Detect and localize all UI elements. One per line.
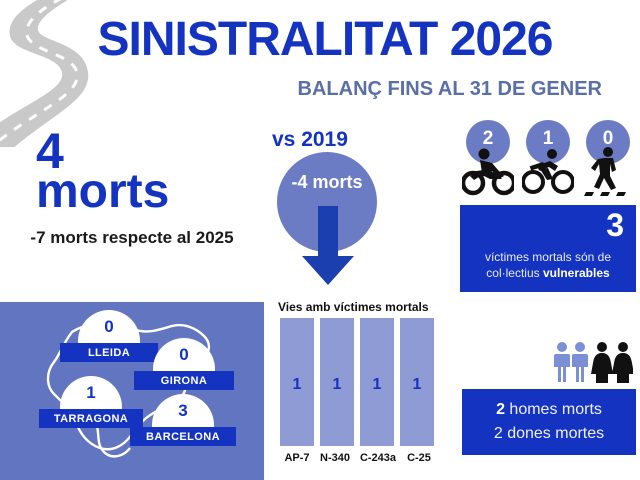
roads-bar-chart: Vies amb víctimes mortals 1 1 1 1 AP-7 N… — [278, 300, 446, 476]
vulnerable-line1: víctimes mortals són de — [485, 250, 611, 264]
tarragona-value: 1 — [60, 384, 122, 401]
motorcycle-icon — [462, 146, 514, 196]
vs-2019-label: vs 2019 — [272, 128, 348, 152]
bar-value-ap7: 1 — [280, 376, 314, 394]
people-group-icon — [553, 341, 633, 383]
arrow-down-icon — [300, 206, 356, 286]
vehicle-stat-bicycle: 1 — [522, 120, 574, 198]
vulnerable-count: 3 — [606, 209, 624, 241]
page-title: SINISTRALITAT 2026 — [30, 16, 620, 64]
girona-value: 0 — [153, 346, 215, 363]
bicycle-icon — [522, 146, 574, 196]
vulnerable-victims-box: 3 víctimes mortals són de col·lectius vu… — [460, 205, 636, 292]
men-deaths-line: 2 homes morts — [462, 401, 636, 419]
page-subtitle: BALANÇ FINS AL 31 DE GENER — [30, 78, 620, 101]
tarragona-label: TARRAGONA — [39, 409, 143, 428]
bar-label-c243a: C-243a — [354, 452, 402, 464]
bar-label-c25: C-25 — [398, 452, 440, 464]
vehicle-stat-pedestrian: 0 — [582, 120, 634, 198]
lleida-label: LLEIDA — [60, 343, 158, 362]
men-label: homes morts — [505, 401, 602, 418]
chart-bars: 1 1 1 1 — [278, 318, 446, 446]
deaths-word: morts — [36, 168, 169, 216]
women-deaths-line: 2 dones mortes — [462, 425, 636, 443]
bar-label-n340: N-340 — [312, 452, 358, 464]
barcelona-value: 3 — [152, 402, 214, 419]
vs-2019-value: -4 morts — [277, 172, 377, 193]
gender-breakdown-box: 2 homes morts 2 dones mortes — [462, 389, 636, 455]
vulnerable-line2-plain: col·lectius — [486, 266, 543, 280]
bar-value-c25: 1 — [400, 376, 434, 394]
vulnerable-line2-bold: vulnerables — [543, 266, 610, 280]
women-count: 2 — [494, 425, 503, 442]
vulnerable-vehicle-group: 2 1 0 — [462, 120, 634, 198]
girona-label: GIRONA — [134, 371, 234, 390]
men-count: 2 — [496, 401, 505, 418]
comparison-note: -7 morts respecte al 2025 — [2, 228, 262, 248]
lleida-value: 0 — [78, 318, 140, 335]
bar-value-c243a: 1 — [360, 376, 394, 394]
bar-value-n340: 1 — [320, 376, 354, 394]
vulnerable-description: víctimes mortals són de col·lectius vuln… — [466, 249, 630, 281]
barcelona-label: BARCELONA — [130, 427, 236, 446]
pedestrian-icon — [582, 146, 634, 196]
vehicle-stat-motorcycle: 2 — [462, 120, 514, 198]
infographic-canvas: SINISTRALITAT 2026 BALANÇ FINS AL 31 DE … — [0, 0, 640, 480]
chart-title: Vies amb víctimes mortals — [278, 300, 446, 314]
catalonia-map-panel: 0 LLEIDA 0 GIRONA 1 TARRAGONA 3 BARCELON… — [0, 302, 264, 480]
women-label: dones mortes — [503, 425, 604, 442]
